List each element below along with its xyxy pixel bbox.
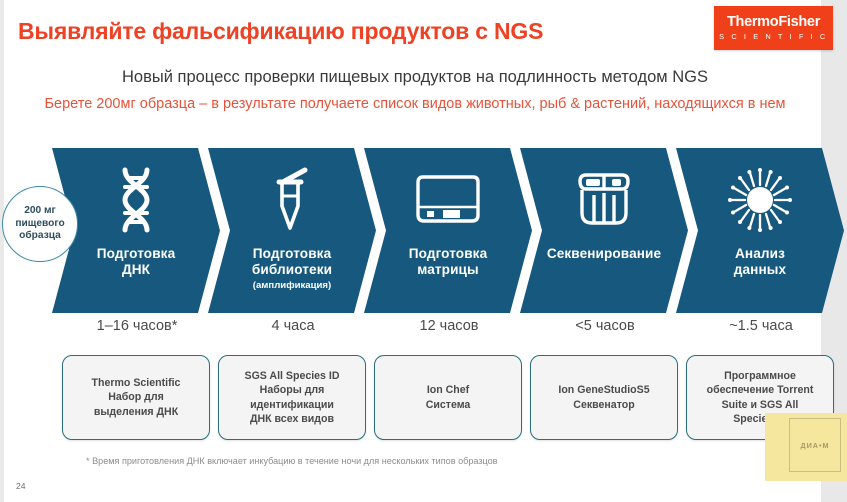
product-line: Секвенатор	[558, 398, 649, 413]
subtitle-secondary: Берете 200мг образца – в результате полу…	[0, 93, 830, 115]
subtitle-primary: Новый процесс проверки пищевых продуктов…	[0, 68, 830, 87]
process-step-library-prep[interactable]: Подготовка библиотеки (амплификация)	[208, 148, 376, 313]
duration-dna-prep: 1–16 часов*	[62, 318, 212, 334]
sequencer-chip-icon	[572, 166, 636, 234]
duration-sequencing: <5 часов	[530, 318, 680, 334]
product-card-dna-kit[interactable]: Thermo Scientific Набор для выделения ДН…	[62, 355, 210, 440]
product-card-text: Thermo Scientific Набор для выделения ДН…	[92, 376, 181, 420]
duration-template-prep: 12 часов	[374, 318, 524, 334]
product-card-ion-chef[interactable]: Ion Chef Система	[374, 355, 522, 440]
pcr-tube-icon	[265, 166, 319, 234]
process-flow: Подготовка ДНК Подготовка библ	[52, 148, 818, 313]
process-step-label-line-1: Подготовка	[97, 246, 175, 262]
product-line: Система	[426, 398, 471, 413]
logo-tagline: S C I E N T I F I C	[719, 32, 828, 41]
process-step-label: Подготовка матрицы	[403, 246, 493, 278]
footnote-text: * Время приготовления ДНК включает инкуб…	[86, 456, 498, 466]
product-line: выделения ДНК	[92, 405, 181, 420]
logo-wordmark: ThermoFisher	[727, 15, 820, 30]
process-step-label: Секвенирование	[541, 246, 667, 262]
duration-library-prep: 4 часа	[218, 318, 368, 334]
product-line: обеспечение Torrent	[707, 383, 814, 398]
product-line: идентификации	[245, 398, 340, 413]
product-line: Программное	[707, 369, 814, 384]
product-line: Ion Chef	[426, 383, 471, 398]
product-row: Thermo Scientific Набор для выделения ДН…	[52, 355, 818, 447]
dna-helix-icon	[108, 166, 164, 234]
product-card-text: Ion GeneStudioS5 Секвенатор	[558, 383, 649, 412]
page-number: 24	[16, 481, 26, 491]
product-card-sgs-all-species-id[interactable]: SGS All Species ID Наборы для идентифика…	[218, 355, 366, 440]
process-step-label-line-1: Секвенирование	[547, 246, 661, 262]
page-title: Выявляйте фальсификацию продуктов с NGS	[18, 18, 678, 45]
product-card-text: SGS All Species ID Наборы для идентифика…	[245, 369, 340, 427]
watermark-text: ДИА•М	[801, 441, 830, 450]
process-step-template-prep[interactable]: Подготовка матрицы	[364, 148, 532, 313]
process-step-data-analysis[interactable]: Анализ данных	[676, 148, 844, 313]
watermark-logo-frame: ДИА•М	[789, 418, 841, 472]
process-step-label-line-1: Подготовка	[252, 246, 332, 262]
slide-canvas: ThermoFisher S C I E N T I F I C Выявляй…	[0, 0, 847, 502]
sample-amount-bubble: 200 мг пищевого образца	[2, 186, 78, 262]
sample-bubble-line-1: 200 мг	[24, 205, 56, 218]
process-step-label: Анализ данных	[728, 246, 792, 278]
product-line: Наборы для	[245, 383, 340, 398]
data-burst-icon	[727, 166, 793, 234]
sample-bubble-line-2: пищевого	[15, 218, 64, 231]
product-line: SGS All Species ID	[245, 369, 340, 384]
duration-data-analysis: ~1.5 часа	[686, 318, 836, 334]
process-step-label-line-2: матрицы	[409, 262, 487, 278]
process-step-label-line-1: Анализ	[734, 246, 786, 262]
process-step-label: Подготовка библиотеки	[246, 246, 338, 278]
duration-row: 1–16 часов* 4 часа 12 часов <5 часов ~1.…	[52, 318, 818, 340]
sample-bubble-line-3: образца	[19, 230, 61, 243]
process-step-label-line-2: данных	[734, 262, 786, 278]
process-step-sublabel: (амплификация)	[253, 280, 331, 291]
product-card-text: Ion Chef Система	[426, 383, 471, 412]
process-step-label-line-2: библиотеки	[252, 262, 332, 278]
product-line: Набор для	[92, 390, 181, 405]
product-line: ДНК всех видов	[245, 412, 340, 427]
process-step-label-line-1: Подготовка	[409, 246, 487, 262]
product-line: Suite и SGS All	[707, 398, 814, 413]
product-card-genestudio-s5[interactable]: Ion GeneStudioS5 Секвенатор	[530, 355, 678, 440]
process-step-label: Подготовка ДНК	[91, 246, 181, 278]
product-line: Thermo Scientific	[92, 376, 181, 391]
process-step-sequencing[interactable]: Секвенирование	[520, 148, 688, 313]
process-step-label-line-2: ДНК	[97, 262, 175, 278]
instrument-box-icon	[412, 166, 484, 234]
product-line: Ion GeneStudioS5	[558, 383, 649, 398]
thermofisher-logo: ThermoFisher S C I E N T I F I C	[714, 6, 833, 50]
